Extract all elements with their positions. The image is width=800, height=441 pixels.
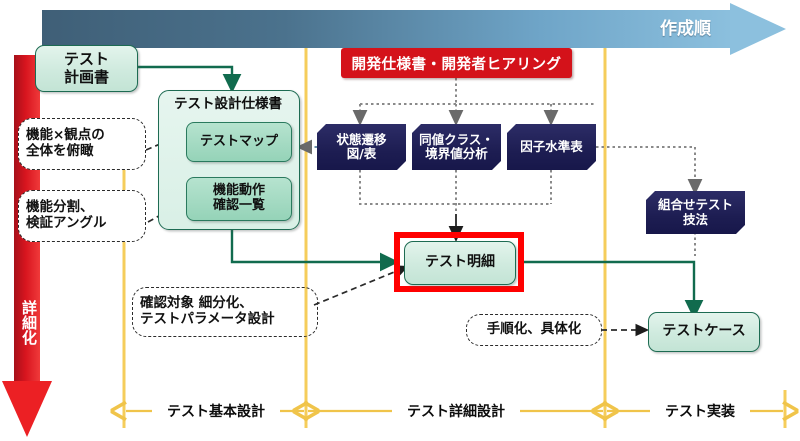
callout-overview: 機能×観点の 全体を俯瞰 <box>18 118 146 170</box>
detail-level-arrow <box>2 55 54 437</box>
function-check-list-box[interactable]: 機能動作 確認一覧 <box>186 177 292 221</box>
creation-order-label: 作成順 <box>660 14 780 39</box>
dev-spec-source-banner: 開発仕様書・開発者ヒアリング <box>341 48 572 78</box>
technique-box-state-transition[interactable]: 状態遷移 図/表 <box>317 124 406 170</box>
red-arrow-head <box>2 381 52 437</box>
phase-label-implementation: テスト実装 <box>650 400 750 422</box>
detail-level-label: 詳細化 <box>16 300 36 345</box>
technique-box-combination-testing[interactable]: 組合せテスト 技法 <box>646 191 745 234</box>
callout-target-refinement: 確認対象 細分化、 テストパラメータ設計 <box>132 287 318 337</box>
phase-label-basic-design: テスト基本設計 <box>152 400 280 422</box>
technique-box-factor-level-table[interactable]: 因子水準表 <box>507 124 596 170</box>
callout-function-split: 機能分割、 検証アングル <box>18 190 146 242</box>
banner-shaft <box>42 10 735 48</box>
test-detail-box[interactable]: テスト明細 <box>404 241 516 285</box>
test-map-box[interactable]: テストマップ <box>186 122 292 162</box>
diagram-canvas: 作成順 詳細化 開発仕様書・開発者ヒアリング テスト 計画書 テスト設計仕様書 … <box>0 0 800 441</box>
phase-label-detailed-design: テスト詳細設計 <box>392 400 520 422</box>
test-plan-box[interactable]: テスト 計画書 <box>35 45 138 92</box>
technique-box-equivalence-boundary[interactable]: 同値クラス・ 境界値分析 <box>412 124 501 170</box>
callout-procedure-concretization: 手順化、具体化 <box>466 314 602 346</box>
test-case-box[interactable]: テストケース <box>648 312 760 352</box>
